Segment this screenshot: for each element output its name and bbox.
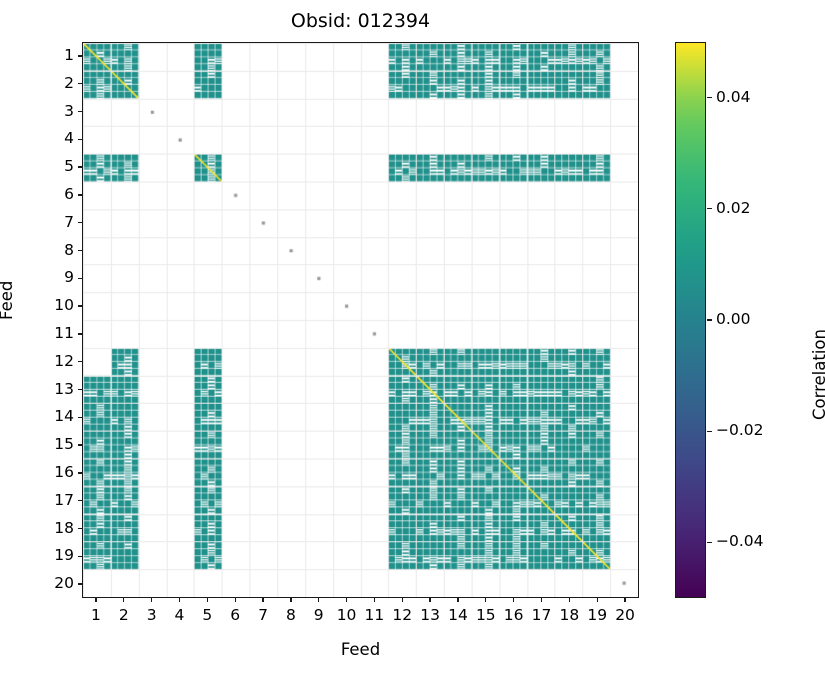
y-tick-mark xyxy=(78,305,82,306)
x-tick-mark xyxy=(346,598,347,602)
y-tick-mark xyxy=(78,250,82,251)
y-tick-mark xyxy=(78,166,82,167)
y-tick-label: 15 xyxy=(40,435,74,453)
heatmap-axes[interactable] xyxy=(82,42,639,598)
y-tick-mark xyxy=(78,500,82,501)
y-tick-mark xyxy=(78,444,82,445)
x-tick-label: 20 xyxy=(608,606,642,624)
figure-canvas: Obsid: 012394 12345678910111213141516171… xyxy=(0,0,825,678)
x-tick-mark xyxy=(151,598,152,602)
colorbar-tick-mark xyxy=(707,208,712,209)
colorbar xyxy=(675,42,706,598)
y-tick-mark xyxy=(78,472,82,473)
x-tick-mark xyxy=(290,598,291,602)
x-tick-mark xyxy=(457,598,458,602)
x-tick-mark xyxy=(207,598,208,602)
y-tick-label: 13 xyxy=(40,380,74,398)
y-tick-label: 20 xyxy=(40,574,74,592)
x-tick-mark xyxy=(597,598,598,602)
correlation-matrix-heatmap[interactable] xyxy=(83,43,638,597)
y-tick-mark xyxy=(78,556,82,557)
y-tick-mark xyxy=(78,278,82,279)
x-tick-mark xyxy=(179,598,180,602)
y-tick-label: 11 xyxy=(40,324,74,342)
y-tick-mark xyxy=(78,361,82,362)
x-tick-mark xyxy=(429,598,430,602)
y-tick-label: 16 xyxy=(40,463,74,481)
y-tick-label: 17 xyxy=(40,491,74,509)
colorbar-tick-mark xyxy=(707,97,712,98)
y-tick-mark xyxy=(78,83,82,84)
y-tick-label: 12 xyxy=(40,352,74,370)
x-tick-mark xyxy=(402,598,403,602)
x-tick-mark xyxy=(318,598,319,602)
colorbar-gradient xyxy=(675,42,706,598)
y-tick-mark xyxy=(78,194,82,195)
y-tick-label: 14 xyxy=(40,407,74,425)
x-tick-mark xyxy=(235,598,236,602)
x-tick-mark xyxy=(485,598,486,602)
y-tick-label: 3 xyxy=(40,102,74,120)
x-tick-mark xyxy=(262,598,263,602)
y-tick-mark xyxy=(78,55,82,56)
colorbar-tick-label: −0.02 xyxy=(716,421,764,439)
y-tick-label: 9 xyxy=(40,268,74,286)
colorbar-tick-label: 0.04 xyxy=(716,88,751,106)
x-tick-mark xyxy=(374,598,375,602)
y-axis-label: Feed xyxy=(0,281,16,320)
y-tick-label: 8 xyxy=(40,241,74,259)
colorbar-tick-label: 0.02 xyxy=(716,199,751,217)
colorbar-label: Correlation xyxy=(810,329,825,420)
colorbar-tick-mark xyxy=(707,319,712,320)
y-tick-label: 10 xyxy=(40,296,74,314)
x-tick-mark xyxy=(123,598,124,602)
page-title: Obsid: 012394 xyxy=(82,10,639,32)
y-tick-label: 4 xyxy=(40,129,74,147)
y-tick-mark xyxy=(78,222,82,223)
y-tick-label: 6 xyxy=(40,185,74,203)
y-tick-label: 18 xyxy=(40,519,74,537)
x-tick-mark xyxy=(624,598,625,602)
y-tick-mark xyxy=(78,333,82,334)
y-tick-label: 19 xyxy=(40,546,74,564)
colorbar-tick-label: 0.00 xyxy=(716,310,751,328)
y-tick-mark xyxy=(78,111,82,112)
y-tick-label: 5 xyxy=(40,157,74,175)
x-axis-label: Feed xyxy=(82,640,639,659)
y-tick-mark xyxy=(78,139,82,140)
y-tick-mark xyxy=(78,528,82,529)
y-tick-mark xyxy=(78,389,82,390)
y-tick-mark xyxy=(78,583,82,584)
x-tick-mark xyxy=(513,598,514,602)
colorbar-tick-mark xyxy=(707,431,712,432)
colorbar-tick-mark xyxy=(707,542,712,543)
y-tick-mark xyxy=(78,417,82,418)
y-tick-label: 1 xyxy=(40,46,74,64)
colorbar-tick-label: −0.04 xyxy=(716,532,764,550)
x-tick-mark xyxy=(95,598,96,602)
y-tick-label: 7 xyxy=(40,213,74,231)
x-tick-mark xyxy=(541,598,542,602)
x-tick-mark xyxy=(569,598,570,602)
y-tick-label: 2 xyxy=(40,74,74,92)
